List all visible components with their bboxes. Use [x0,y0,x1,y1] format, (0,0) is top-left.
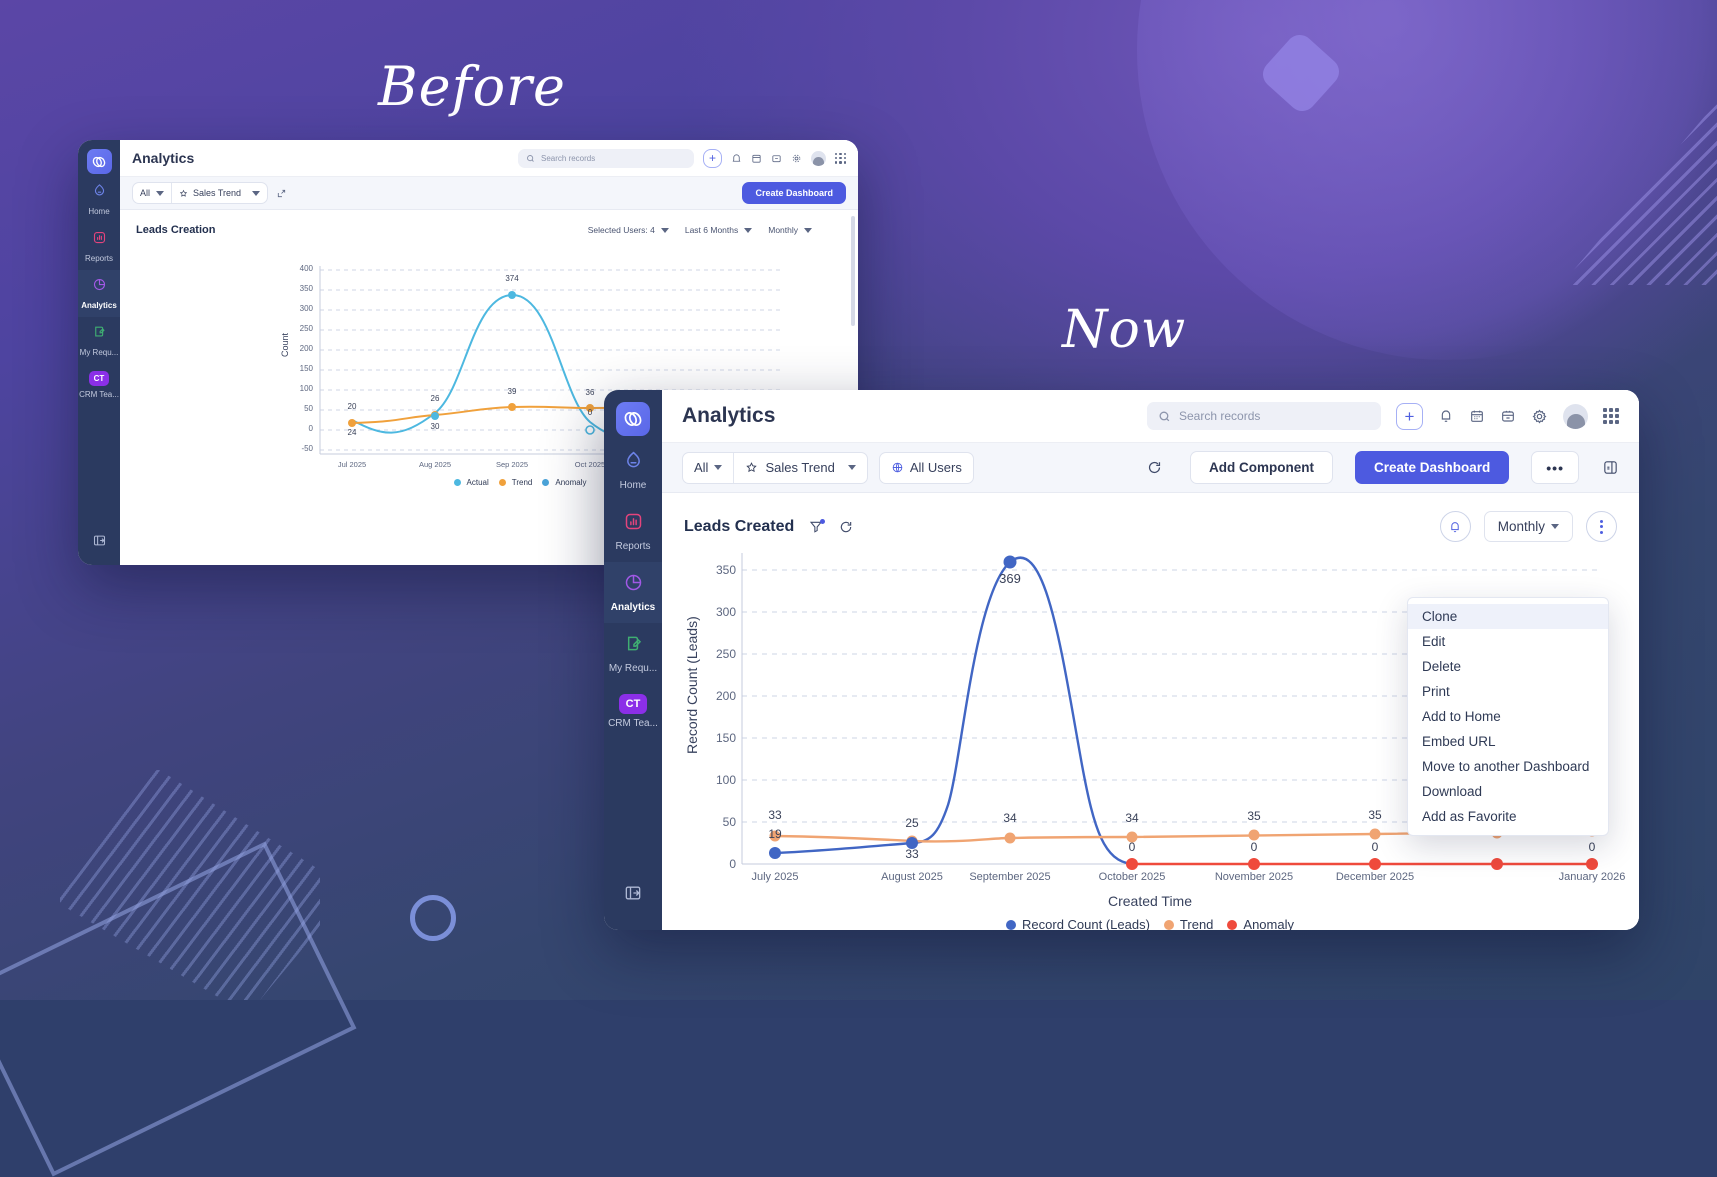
module-dropdown[interactable]: All [683,460,733,475]
module-label: All [694,460,708,475]
page-title: Analytics [682,404,775,428]
y-tick: 50 [698,815,736,829]
home-icon [92,183,107,203]
y-tick: 150 [275,364,313,373]
chevron-down-icon [744,228,752,233]
menu-item-clone[interactable]: Clone [1408,604,1608,629]
frequency-label: Monthly [768,225,798,235]
sidebar-item-crm-team[interactable]: CT CRM Tea... [604,684,662,739]
y-tick: 0 [275,424,313,433]
sidebar-item-label: CRM Tea... [608,718,658,729]
gear-icon[interactable] [791,153,802,164]
before-topbar: Analytics Search records + [120,140,858,177]
data-label: 25 [892,816,932,830]
apps-grid-icon[interactable] [835,153,846,164]
data-label: 0 [1355,840,1395,854]
data-label: 374 [492,274,532,283]
star-icon [745,461,758,474]
data-label: 0 [1572,840,1612,854]
now-toolbar: All Sales Trend All Users [662,443,1639,493]
data-label: 19 [755,827,795,841]
my-requests-icon [623,633,644,659]
legend-label: Actual [467,478,489,487]
users-filter-chip[interactable]: All Users [879,452,974,484]
sidebar-item-label: Analytics [81,301,117,310]
crm-team-badge-text: CT [626,698,641,710]
component-title: Leads Created [684,518,794,536]
search-input[interactable]: Search records [1147,402,1381,430]
legend-item[interactable]: Anomaly [1227,917,1294,930]
collapse-sidebar-icon[interactable] [623,883,643,908]
app-logo-icon[interactable] [87,149,112,174]
chevron-down-icon [252,191,260,196]
sidebar-item-label: My Requ... [609,663,657,674]
data-label: 34 [1112,811,1152,825]
sidebar-collapse-area [78,533,120,565]
sidebar-collapse-area [604,883,662,930]
apps-grid-icon[interactable] [1603,408,1619,424]
now-label: Now [1062,300,1186,360]
data-label: 33 [755,808,795,822]
bell-icon[interactable] [1438,408,1454,424]
x-axis-label: Created Time [1050,893,1250,909]
y-tick: 0 [698,857,736,871]
menu-item-print[interactable]: Print [1408,679,1608,704]
x-tick: Aug 2025 [405,460,465,469]
collapse-sidebar-icon[interactable] [92,533,107,553]
legend-item[interactable]: Trend [1164,917,1213,930]
legend-item[interactable]: Record Count (Leads) [1006,917,1150,930]
legend-swatch [542,479,549,486]
legend-swatch [499,479,506,486]
chevron-down-icon [848,465,856,470]
x-tick: July 2025 [725,871,825,883]
x-tick: November 2025 [1204,871,1304,883]
menu-item-delete[interactable]: Delete [1408,654,1608,679]
reports-icon [623,511,644,537]
x-tick: Sep 2025 [482,460,542,469]
sidebar-item-label: Reports [615,541,650,552]
sidebar-item-analytics[interactable]: Analytics [78,270,120,317]
data-label: 24 [332,428,372,437]
data-label: 0 [1112,840,1152,854]
analytics-pie-icon [623,572,644,598]
menu-item-embed-url[interactable]: Embed URL [1408,729,1608,754]
sidebar-item-label: Analytics [611,602,655,613]
inbox-icon[interactable] [1500,408,1516,424]
menu-item-download[interactable]: Download [1408,779,1608,804]
data-label: 30 [415,422,455,431]
now-window: Home Reports Analytics [604,390,1639,930]
reports-icon [92,230,107,250]
sidebar-item-reports[interactable]: Reports [604,501,662,562]
analytics-pie-icon [92,277,107,297]
sidebar-item-home[interactable]: Home [78,174,120,223]
selected-users-label: Selected Users: 4 [588,225,655,235]
before-panel-header: Leads Creation Selected Users: 4 Last 6 … [120,210,858,236]
before-scrollbar[interactable] [851,216,855,326]
now-topbar: Analytics Search records + [662,390,1639,443]
data-label: 369 [990,571,1030,586]
add-component-button[interactable]: Add Component [1190,451,1333,484]
x-tick: December 2025 [1325,871,1425,883]
my-requests-icon [92,324,107,344]
crm-team-badge-text: CT [94,374,105,383]
more-options-button[interactable]: ••• [1531,451,1579,484]
legend-item[interactable]: Anomaly [542,478,586,487]
data-label: 35 [1355,808,1395,822]
menu-item-edit[interactable]: Edit [1408,629,1608,654]
y-tick: 200 [698,689,736,703]
sidebar-item-home[interactable]: Home [604,436,662,501]
y-tick: -50 [275,444,313,453]
refresh-icon[interactable] [838,519,854,535]
frequency-label: Monthly [1498,519,1545,534]
create-dashboard-button[interactable]: Create Dashboard [1355,451,1509,484]
sidebar-item-label: Home [88,207,109,216]
period-label: Last 6 Months [685,225,738,235]
side-panel-icon[interactable] [1602,459,1619,476]
menu-item-add-to-home[interactable]: Add to Home [1408,704,1608,729]
before-sidebar: Home Reports Analytics [78,140,120,565]
crm-team-badge: CT [619,694,648,714]
app-logo-icon[interactable] [616,402,650,436]
menu-item-move-to-another-dashboard[interactable]: Move to another Dashboard [1408,754,1608,779]
before-toolbar: All Sales Trend Create Dashboard [120,177,858,210]
data-label: 33 [892,847,932,861]
view-dropdown[interactable]: Sales Trend [734,460,866,475]
sidebar-item-my-requests[interactable]: My Requ... [604,623,662,684]
chevron-down-icon [714,465,722,470]
legend-item[interactable]: Trend [499,478,533,487]
home-icon [623,450,644,476]
sidebar-item-label: My Requ... [80,348,119,357]
expand-icon[interactable] [276,188,287,199]
component-title: Leads Creation [136,224,215,236]
view-label: Sales Trend [193,188,241,198]
y-tick: 350 [275,284,313,293]
calendar-icon[interactable] [1469,408,1485,424]
legend-swatch [1164,920,1174,930]
search-placeholder: Search records [541,154,595,163]
crm-team-badge: CT [89,371,110,386]
now-panel: Leads Created M [662,493,1639,930]
users-filter-label: All Users [910,460,962,475]
data-label: 0 [1234,840,1274,854]
legend-label: Record Count (Leads) [1022,917,1150,930]
y-tick: 350 [698,563,736,577]
bell-icon[interactable] [731,153,742,164]
now-sidebar: Home Reports Analytics [604,390,662,930]
add-record-button[interactable]: + [1396,403,1423,430]
refresh-icon[interactable] [1146,459,1163,476]
component-context-menu: Clone Edit Delete Print Add to Home Embe… [1407,597,1609,836]
y-tick: 150 [698,731,736,745]
x-tick: October 2025 [1082,871,1182,883]
legend-label: Anomaly [1243,917,1294,930]
y-tick: 200 [275,344,313,353]
sidebar-item-crm-team[interactable]: CT CRM Tea... [78,364,120,406]
y-tick: 300 [275,304,313,313]
avatar[interactable] [811,151,826,166]
search-input[interactable]: Search records [518,149,694,168]
data-label: 35 [1234,809,1274,823]
y-tick: 100 [275,384,313,393]
sidebar-item-label: Home [620,480,647,491]
legend-swatch [454,479,461,486]
frequency-dropdown[interactable]: Monthly [768,225,812,235]
x-tick: August 2025 [862,871,962,883]
calendar-icon[interactable] [751,153,762,164]
module-view-selector: All Sales Trend [682,452,868,484]
create-dashboard-button[interactable]: Create Dashboard [742,182,846,204]
legend-label: Trend [1180,917,1213,930]
sidebar-item-label: Reports [85,254,113,263]
view-dropdown[interactable]: Sales Trend [172,188,267,198]
sidebar-item-my-requests[interactable]: My Requ... [78,317,120,364]
y-tick: 400 [275,264,313,273]
menu-item-add-as-favorite[interactable]: Add as Favorite [1408,804,1608,829]
star-icon [179,189,188,198]
module-label: All [140,188,150,198]
selected-users-dropdown[interactable]: Selected Users: 4 [588,225,669,235]
data-label: 20 [332,402,372,411]
decor-hatch-top-right [1567,95,1717,285]
module-view-selector: All Sales Trend [132,182,268,204]
chevron-down-icon [661,228,669,233]
sidebar-item-label: CRM Tea... [79,390,119,399]
legend-label: Anomaly [555,478,586,487]
search-icon [526,154,535,163]
data-label: 34 [990,811,1030,825]
inbox-icon[interactable] [771,153,782,164]
data-label: 39 [492,387,532,396]
sidebar-item-reports[interactable]: Reports [78,223,120,270]
filter-icon[interactable] [808,519,824,535]
module-dropdown[interactable]: All [133,188,171,198]
chevron-down-icon [804,228,812,233]
chevron-down-icon [156,191,164,196]
legend-swatch [1227,920,1237,930]
legend-item[interactable]: Actual [454,478,489,487]
search-placeholder: Search records [1179,409,1260,423]
x-tick: January 2026 [1542,871,1639,883]
y-tick: 250 [275,324,313,333]
y-tick: 250 [698,647,736,661]
y-tick: 50 [275,404,313,413]
gear-icon[interactable] [1531,408,1548,425]
now-window-body: Analytics Search records + [662,390,1639,930]
period-dropdown[interactable]: Last 6 Months [685,225,752,235]
y-tick: 100 [698,773,736,787]
now-chart-legend: Record Count (Leads) Trend Anomaly [950,917,1350,930]
legend-swatch [1006,920,1016,930]
search-icon [1158,410,1171,423]
page-title: Analytics [132,150,194,166]
view-label: Sales Trend [765,460,834,475]
data-label: 26 [415,394,455,403]
x-tick: September 2025 [960,871,1060,883]
sidebar-item-analytics[interactable]: Analytics [604,562,662,623]
decor-ring [410,895,456,941]
x-tick: Jul 2025 [322,460,382,469]
legend-label: Trend [512,478,533,487]
globe-icon [891,461,904,474]
add-record-button[interactable]: + [703,149,722,168]
chevron-down-icon [1551,524,1559,529]
before-label: Before [378,55,566,118]
avatar[interactable] [1563,404,1588,429]
y-tick: 300 [698,605,736,619]
